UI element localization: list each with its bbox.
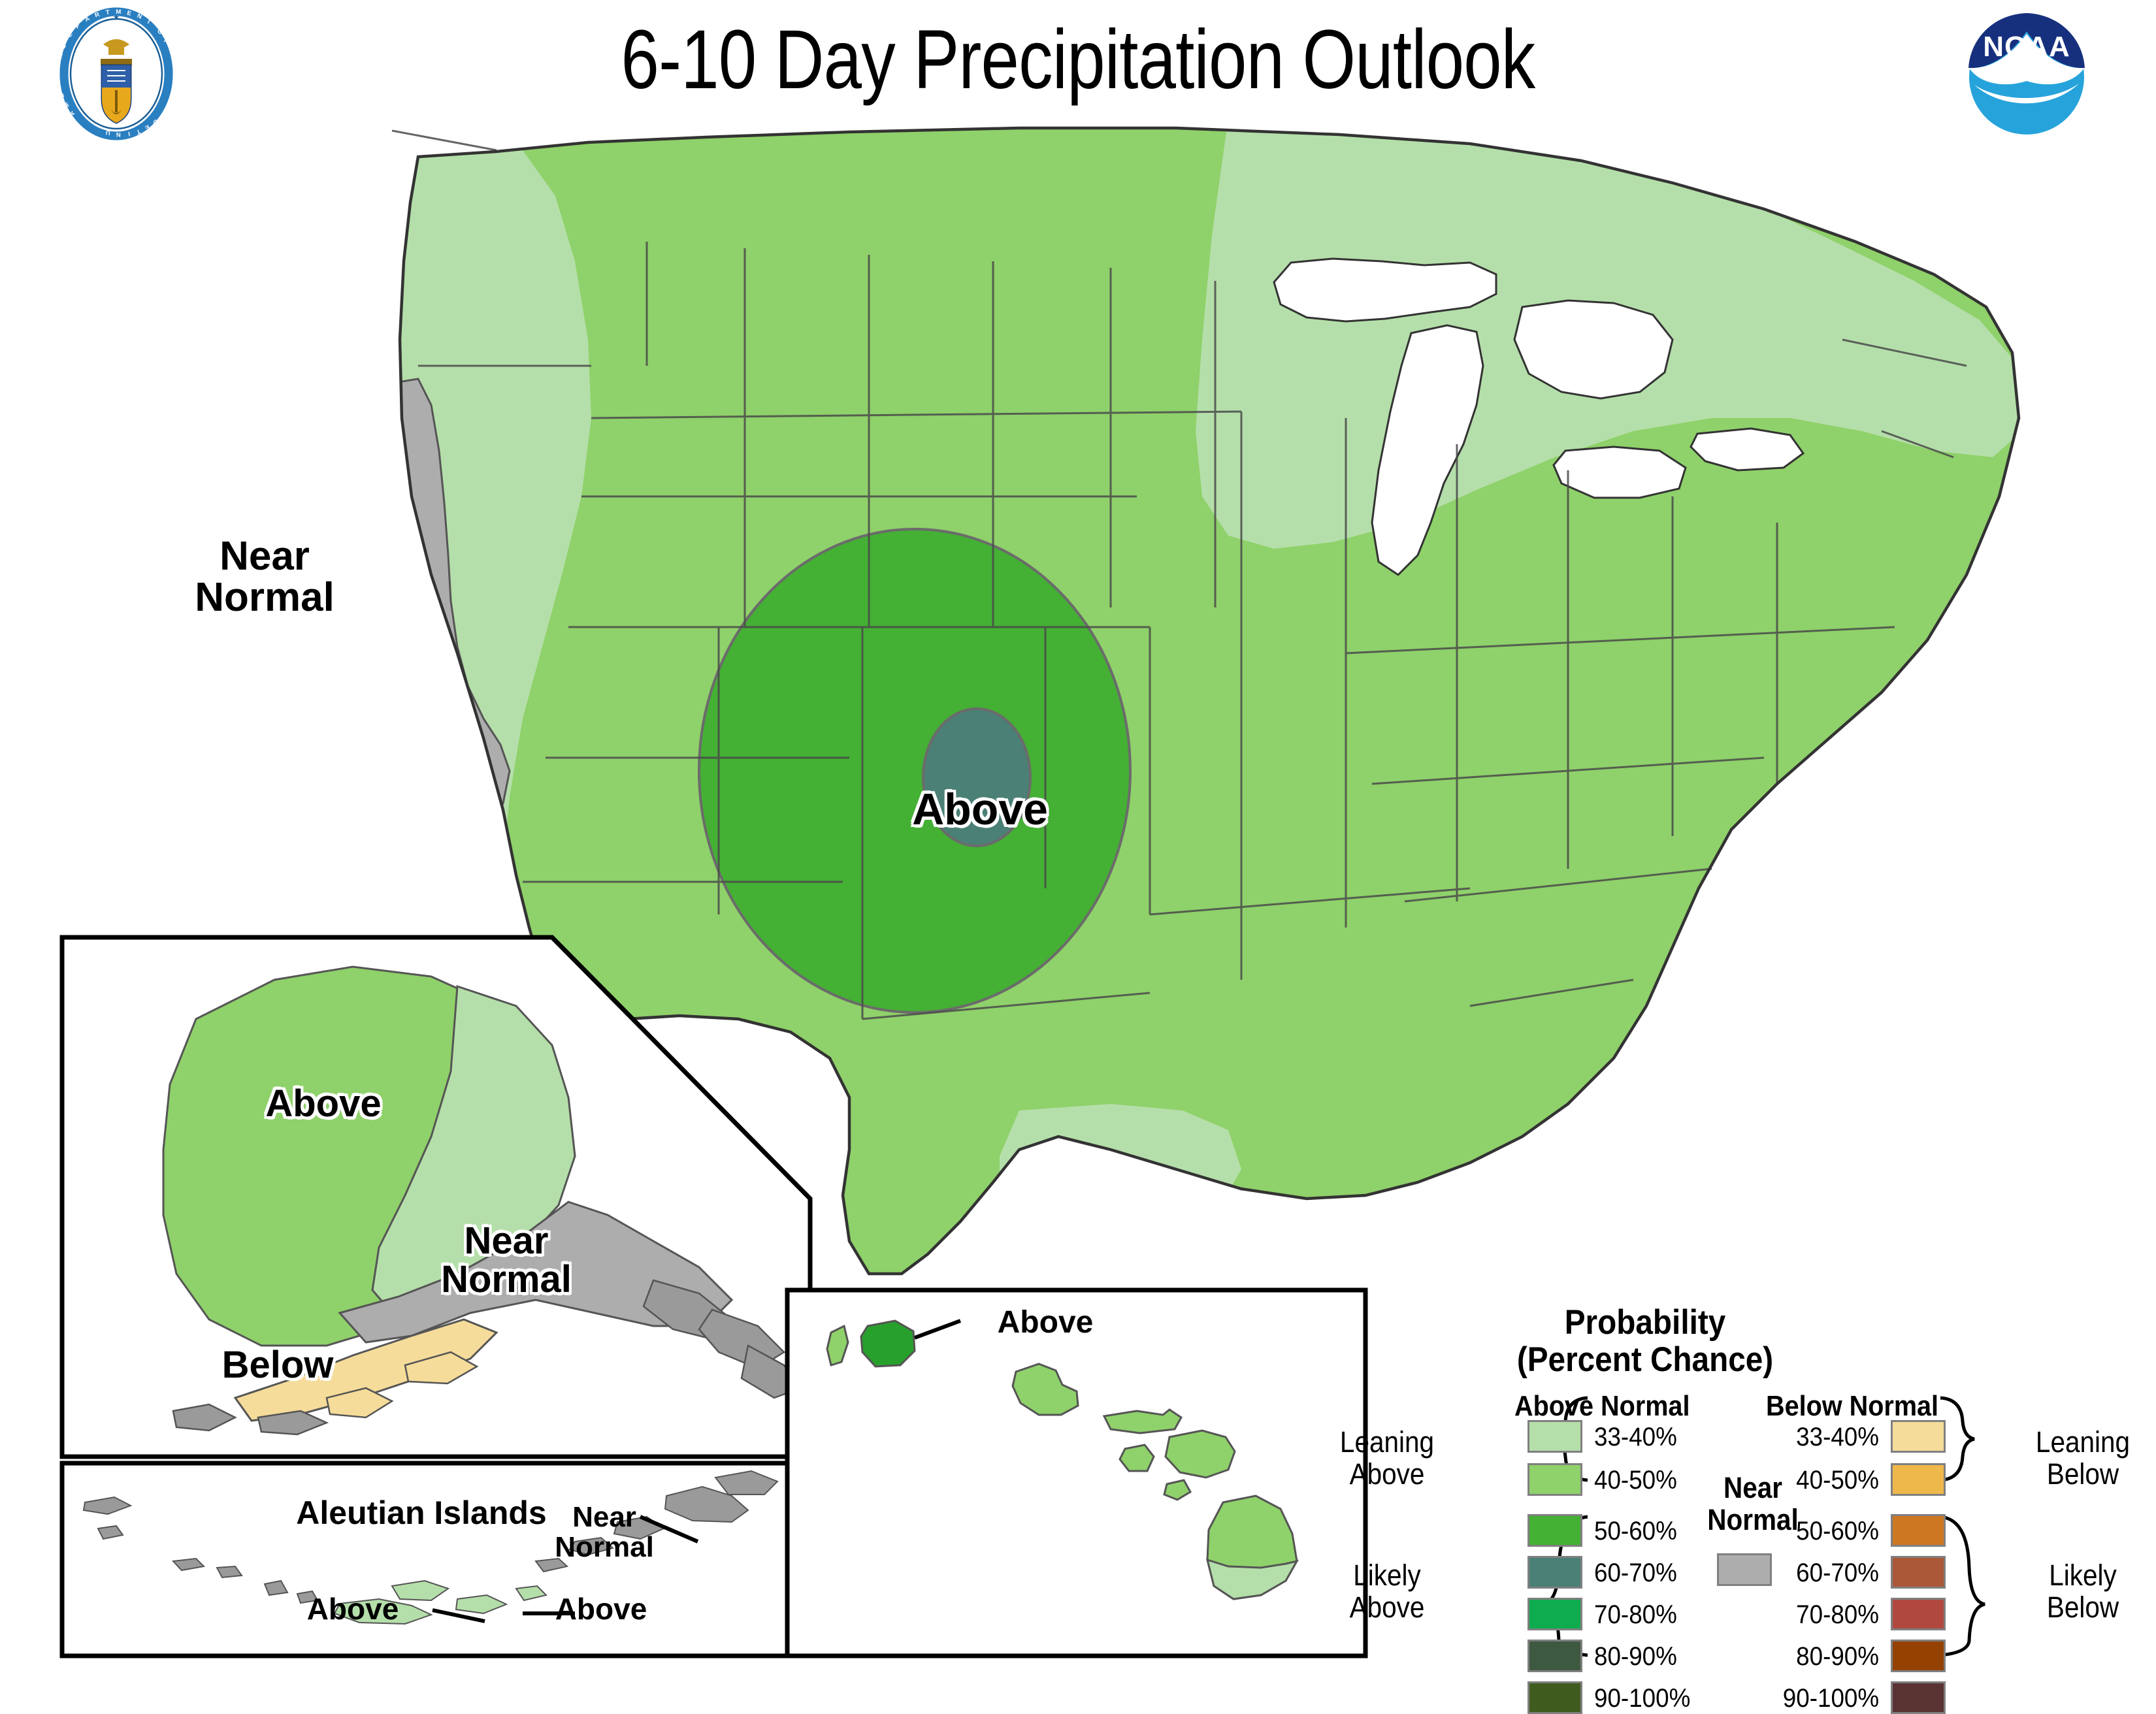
line1: Leaning <box>2036 1425 2130 1459</box>
legend-pct-below-80-90: 80-90% <box>1790 1642 1879 1672</box>
line2: Normal <box>195 575 335 620</box>
line1: Near <box>220 534 310 579</box>
line1: Near <box>465 1220 549 1262</box>
legend-swatch-below-33-40[interactable] <box>1891 1420 1946 1453</box>
legend-swatch-below-90-100[interactable] <box>1891 1681 1946 1714</box>
legend-group-leaning-above: Leaning Above <box>1314 1427 1461 1490</box>
line1: Leaning <box>1340 1425 1434 1459</box>
line2: Below <box>2047 1591 2119 1624</box>
legend-swatch-below-60-70[interactable] <box>1891 1556 1946 1589</box>
map-label-above-central: Above <box>882 787 1078 832</box>
legend-swatch-above-60-70[interactable] <box>1527 1556 1582 1589</box>
alaska-label-near-normal: Near Normal <box>408 1221 604 1299</box>
line2: Normal <box>1707 1503 1799 1536</box>
alaska-label-above: Above <box>232 1084 415 1123</box>
line2: Above <box>1350 1591 1425 1624</box>
legend-pct-above-50-60: 50-60% <box>1594 1517 1677 1546</box>
hawaii-lanai <box>1120 1445 1154 1471</box>
legend-title: Probability (Percent Chance) <box>1416 1304 1874 1378</box>
aleutian-label-above-left: Above <box>274 1594 431 1625</box>
alaska-label-below: Below <box>186 1346 369 1384</box>
probability-legend: Probability (Percent Chance) Above Norma… <box>1390 1299 2142 1664</box>
legend-header-below-normal: Below Normal <box>1766 1390 1938 1423</box>
legend-label-near-normal: Near Normal <box>1694 1472 1812 1536</box>
hawaii-kauai <box>861 1321 915 1366</box>
legend-pct-above-80-90: 80-90% <box>1594 1642 1677 1672</box>
line1: Near <box>1723 1471 1782 1504</box>
legend-group-leaning-below: Leaning Below <box>2010 1427 2156 1490</box>
legend-swatch-below-40-50[interactable] <box>1891 1463 1946 1496</box>
legend-pct-below-33-40: 33-40% <box>1790 1423 1879 1452</box>
legend-swatch-above-50-60[interactable] <box>1527 1514 1582 1547</box>
hawaii-label-above: Above <box>967 1306 1124 1339</box>
legend-title-line2: (Percent Chance) <box>1517 1340 1773 1379</box>
legend-swatch-below-50-60[interactable] <box>1891 1514 1946 1547</box>
legend-swatch-above-80-90[interactable] <box>1527 1640 1582 1672</box>
legend-group-likely-above: Likely Above <box>1314 1560 1461 1623</box>
line2: Above <box>1350 1457 1425 1491</box>
aleutian-label-above-right: Above <box>523 1594 679 1625</box>
legend-pct-above-40-50: 40-50% <box>1594 1466 1677 1495</box>
legend-pct-below-90-100: 90-100% <box>1783 1684 1879 1713</box>
legend-pct-above-70-80: 70-80% <box>1594 1600 1677 1630</box>
aleutian-label-near-normal: Near Normal <box>519 1502 689 1562</box>
line2: Normal <box>441 1258 572 1301</box>
legend-swatch-near-normal[interactable] <box>1717 1553 1772 1586</box>
legend-pct-below-60-70: 60-70% <box>1790 1559 1879 1588</box>
region-central-plains-50-60 <box>699 529 1130 1012</box>
legend-pct-above-60-70: 60-70% <box>1594 1559 1677 1588</box>
legend-swatch-below-80-90[interactable] <box>1891 1640 1946 1672</box>
legend-header-above-normal: Above Normal <box>1514 1390 1690 1423</box>
line2: Normal <box>555 1531 654 1563</box>
legend-pct-above-33-40: 33-40% <box>1594 1423 1677 1452</box>
legend-pct-below-70-80: 70-80% <box>1790 1600 1879 1630</box>
line2: Below <box>2047 1457 2119 1491</box>
legend-swatch-above-33-40[interactable] <box>1527 1420 1582 1453</box>
legend-swatch-above-90-100[interactable] <box>1527 1681 1582 1714</box>
line1: Near <box>572 1501 636 1533</box>
legend-group-likely-below: Likely Below <box>2010 1560 2156 1623</box>
legend-swatch-below-70-80[interactable] <box>1891 1598 1946 1630</box>
legend-title-line1: Probability <box>1565 1303 1726 1342</box>
map-label-near-normal-west: Near Normal <box>157 536 372 618</box>
region-south-texas-33-40 <box>1000 1104 1241 1280</box>
legend-pct-above-90-100: 90-100% <box>1594 1684 1690 1713</box>
legend-swatch-above-40-50[interactable] <box>1527 1463 1582 1496</box>
line1: Likely <box>1353 1559 1421 1592</box>
line1: Likely <box>2049 1559 2117 1592</box>
legend-swatch-above-70-80[interactable] <box>1527 1598 1582 1630</box>
